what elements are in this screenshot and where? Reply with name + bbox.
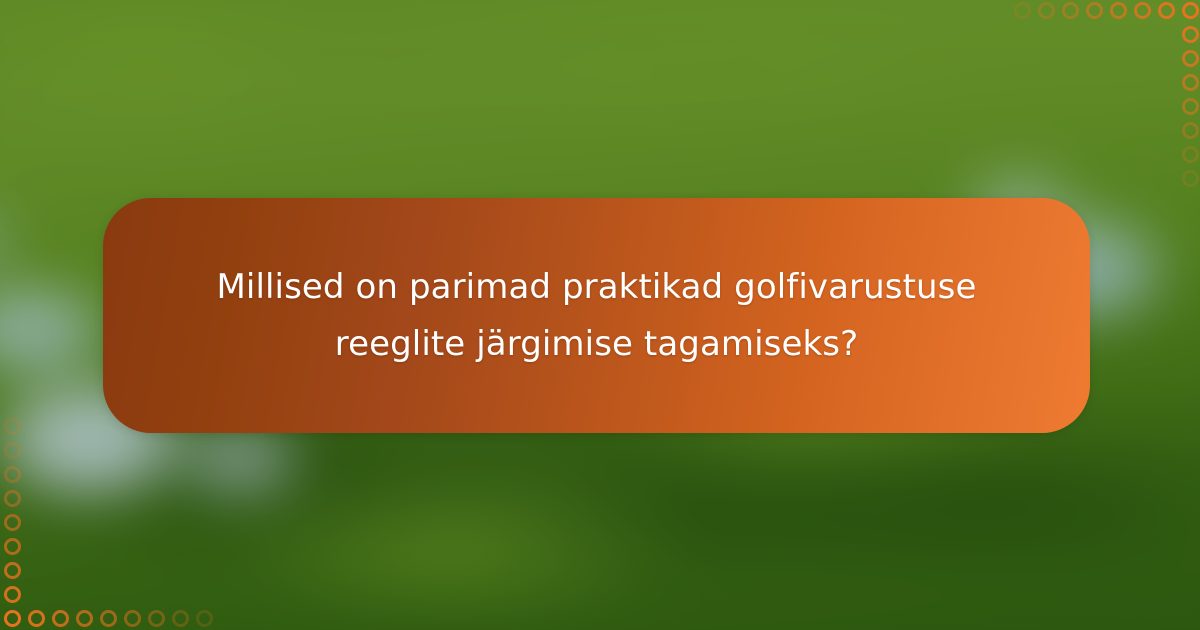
poster-canvas: Millised on parimad praktikad golfivarus… bbox=[0, 0, 1200, 630]
question-card: Millised on parimad praktikad golfivarus… bbox=[103, 198, 1090, 433]
question-text: Millised on parimad praktikad golfivarus… bbox=[167, 259, 1027, 373]
